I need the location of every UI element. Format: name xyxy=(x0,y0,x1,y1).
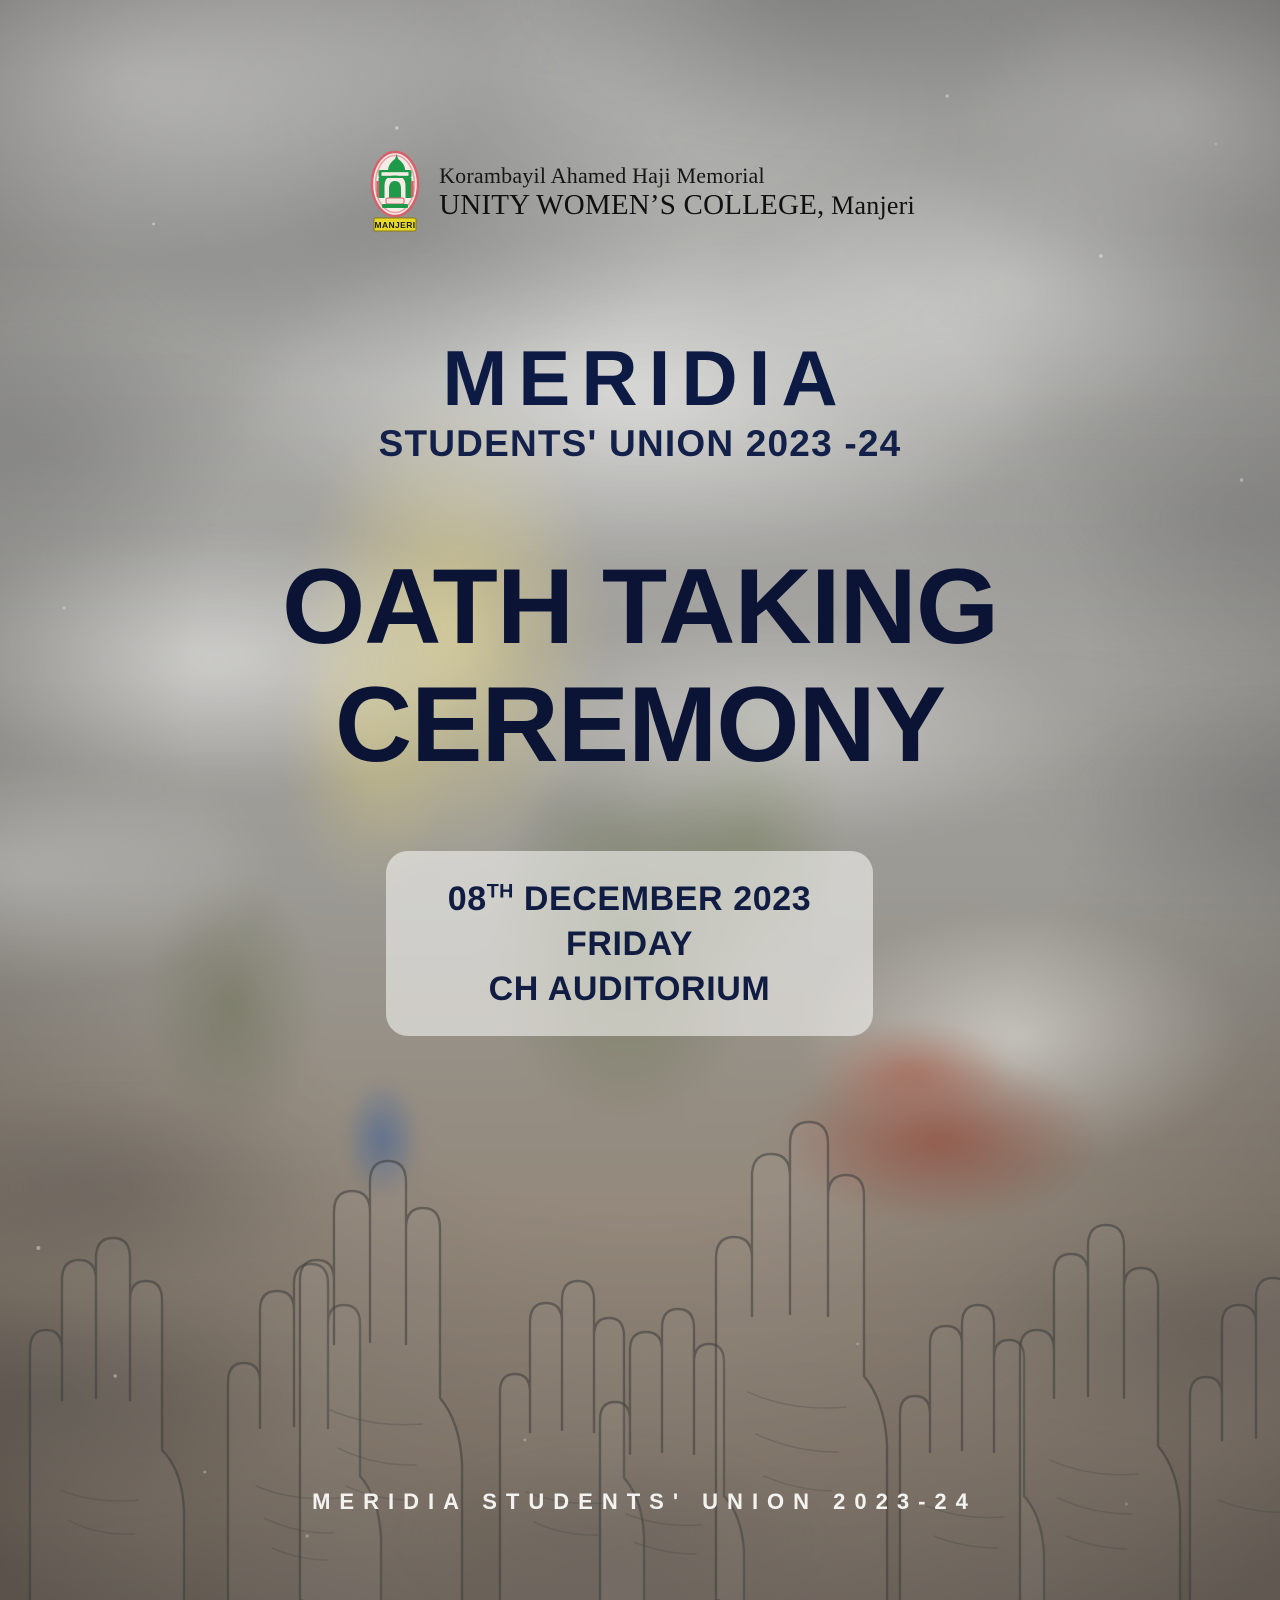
college-crest-logo: MANJERI xyxy=(365,148,425,236)
event-details-card: 08TH DECEMBER 2023 FRIDAY CH AUDITORIUM xyxy=(386,851,873,1036)
college-title-line: UNITY WOMEN’S COLLEGE, Manjeri xyxy=(439,190,915,220)
svg-text:MANJERI: MANJERI xyxy=(375,220,416,230)
college-title-main: UNITY WOMEN’S COLLEGE, xyxy=(439,189,824,221)
college-title-tail: Manjeri xyxy=(824,191,914,220)
event-title-line-1: OATH TAKING xyxy=(0,548,1280,666)
union-subtitle: STUDENTS' UNION 2023 -24 xyxy=(0,424,1280,465)
event-date-day: 08 xyxy=(448,880,487,918)
college-memorial-line: Korambayil Ahamed Haji Memorial xyxy=(439,164,915,187)
event-poster: MANJERI Korambayil Ahamed Haji Memorial … xyxy=(0,0,1280,1600)
union-brand-block: MERIDIA STUDENTS' UNION 2023 -24 xyxy=(0,340,1280,465)
poster-footer: MERIDIA STUDENTS' UNION 2023-24 xyxy=(0,1489,1280,1515)
union-name: MERIDIA xyxy=(0,340,1280,416)
event-date-ordinal: TH xyxy=(487,880,514,902)
event-venue: CH AUDITORIUM xyxy=(489,972,771,1006)
event-date-month-year: DECEMBER 2023 xyxy=(514,880,812,918)
event-weekday: FRIDAY xyxy=(566,927,693,961)
college-header: MANJERI Korambayil Ahamed Haji Memorial … xyxy=(0,148,1280,236)
college-name-block: Korambayil Ahamed Haji Memorial UNITY WO… xyxy=(439,164,915,221)
event-title: OATH TAKING CEREMONY xyxy=(0,548,1280,783)
background-photo xyxy=(0,0,1280,1600)
event-date: 08TH DECEMBER 2023 xyxy=(448,882,812,916)
event-title-line-2: CEREMONY xyxy=(0,666,1280,784)
